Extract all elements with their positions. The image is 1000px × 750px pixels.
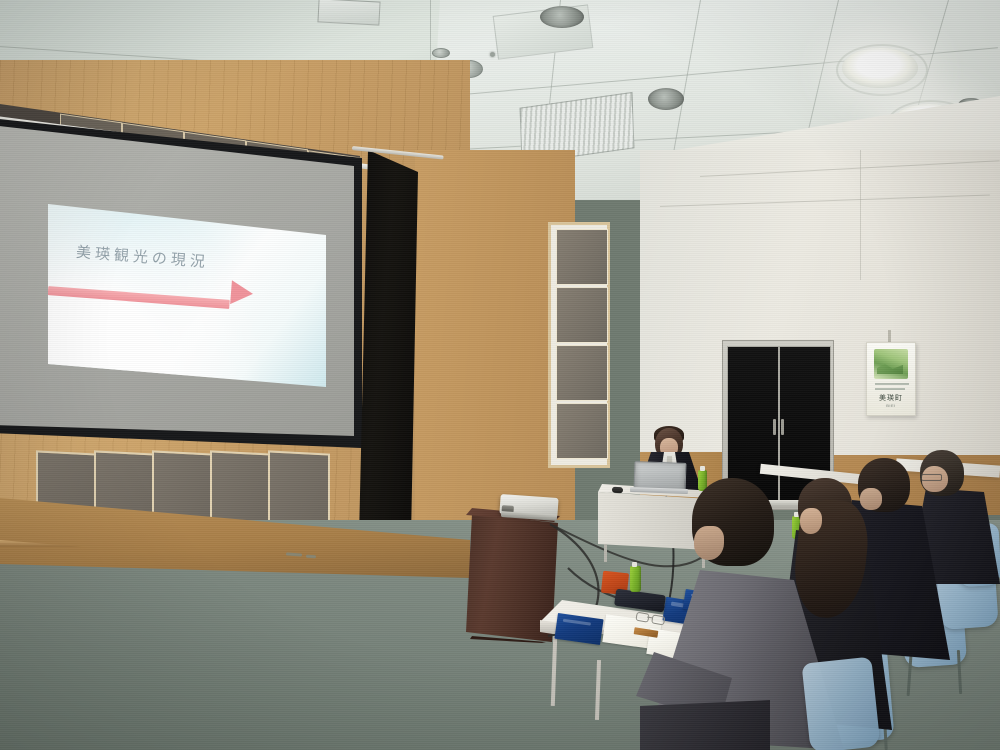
poster-hook-icon bbox=[888, 330, 891, 342]
slide-title: 美瑛観光の現況 bbox=[75, 241, 209, 272]
acoustic-panel-cell bbox=[210, 450, 272, 525]
floor-socket-cover bbox=[306, 555, 316, 559]
mouse[interactable] bbox=[612, 487, 623, 494]
attendee-2-face bbox=[800, 508, 822, 534]
slide-arrow-icon bbox=[230, 280, 254, 306]
attendee-1-ear bbox=[694, 526, 724, 560]
acoustic-panel-cell bbox=[556, 403, 608, 459]
acoustic-panel-cell bbox=[556, 287, 608, 343]
table-leg bbox=[604, 544, 607, 562]
poster-landscape-image bbox=[874, 349, 908, 379]
acoustic-panel-cell bbox=[556, 229, 608, 285]
ceiling-speaker-icon bbox=[432, 48, 450, 58]
acoustic-panel-vertical bbox=[548, 222, 610, 468]
ceiling-air-vent bbox=[317, 0, 380, 26]
attendee-4-glasses-icon bbox=[921, 474, 942, 481]
ceiling-can-light-icon bbox=[540, 6, 584, 28]
conference-room-photo: 美瑛観光の現況 美瑛町 BIEI bbox=[0, 0, 1000, 750]
ceiling-can-light-icon bbox=[648, 88, 684, 110]
wall-seam bbox=[860, 150, 861, 280]
attendee-1-lap bbox=[640, 700, 770, 750]
acoustic-panel-cell bbox=[556, 345, 608, 401]
poster-text-line bbox=[875, 388, 905, 390]
wall-poster: 美瑛町 BIEI bbox=[866, 342, 916, 416]
acoustic-panel-cell bbox=[268, 450, 330, 525]
slide-accent-bar bbox=[48, 286, 230, 309]
attendee-3-ear bbox=[860, 488, 882, 510]
green-tea-bottle bbox=[630, 566, 641, 592]
sprinkler-head-icon bbox=[490, 52, 495, 57]
poster-subtitle: BIEI bbox=[867, 403, 915, 408]
projected-slide: 美瑛観光の現況 bbox=[48, 204, 326, 387]
chair-back[interactable] bbox=[801, 657, 880, 750]
door-handle-icon[interactable] bbox=[773, 419, 776, 435]
poster-text-line bbox=[875, 383, 909, 385]
ceiling-downlight-icon bbox=[842, 48, 918, 88]
poster-title: 美瑛町 bbox=[867, 393, 915, 403]
door-handle-icon[interactable] bbox=[781, 419, 784, 435]
